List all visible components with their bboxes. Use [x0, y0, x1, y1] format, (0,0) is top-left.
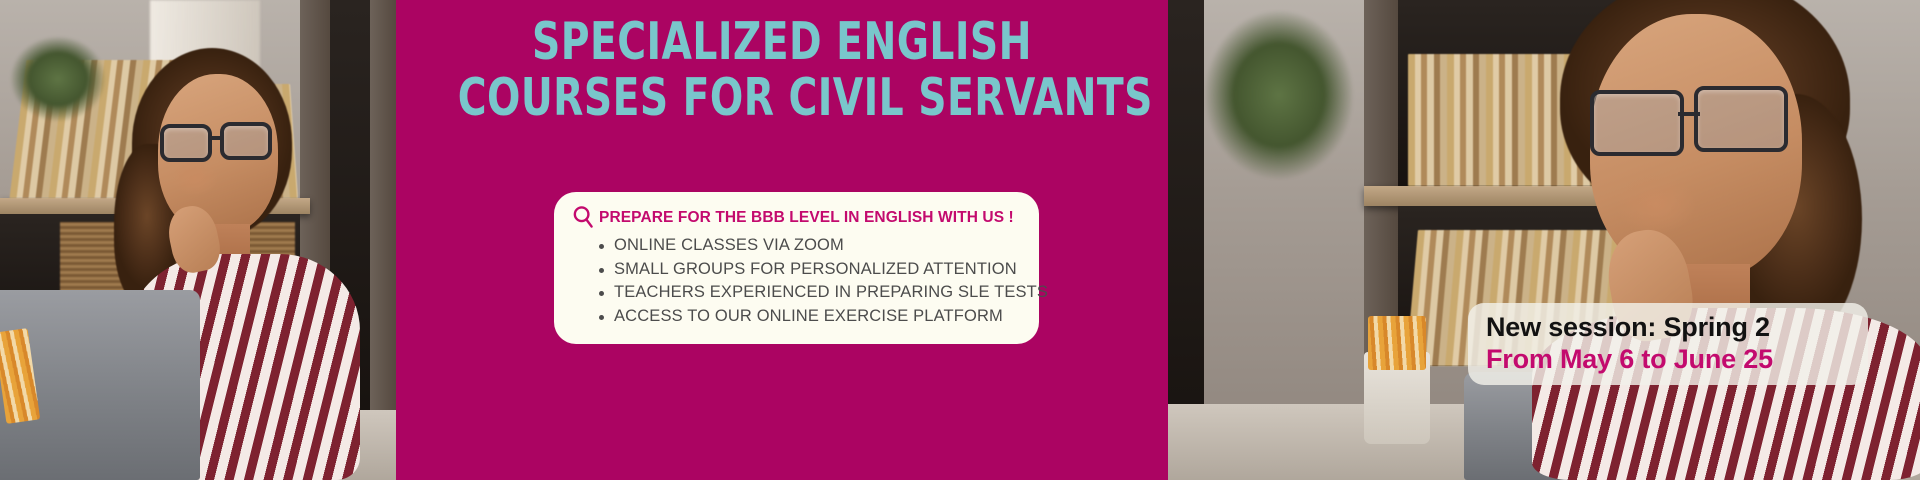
- info-card-heading-row: PREPARE FOR THE BBB LEVEL IN ENGLISH WIT…: [572, 206, 1021, 229]
- promotional-banner: SPECIALIZED ENGLISH COURSES FOR CIVIL SE…: [0, 0, 1920, 480]
- headline-line-1: SPECIALIZED ENGLISH: [458, 14, 1106, 70]
- glasses-lens-left: [160, 124, 212, 162]
- list-item: SMALL GROUPS FOR PERSONALIZED ATTENTION: [614, 258, 1021, 282]
- bookshelf-frame: [370, 0, 396, 430]
- glasses-bridge: [1678, 112, 1700, 116]
- glasses-lens-right: [1694, 86, 1788, 152]
- pencils: [1368, 316, 1426, 370]
- list-item: ONLINE CLASSES VIA ZOOM: [614, 234, 1021, 258]
- office-scene-right: [1168, 0, 1920, 480]
- list-item: ACCESS TO OUR ONLINE EXERCISE PLATFORM: [614, 305, 1021, 329]
- info-card-heading: PREPARE FOR THE BBB LEVEL IN ENGLISH WIT…: [599, 206, 1014, 227]
- headline: SPECIALIZED ENGLISH COURSES FOR CIVIL SE…: [458, 14, 1106, 126]
- session-badge-dates: From May 6 to June 25: [1486, 343, 1850, 375]
- person-right: [1498, 0, 1920, 480]
- cheek-highlight: [172, 160, 218, 196]
- search-icon: [572, 205, 594, 229]
- plant: [1204, 10, 1354, 180]
- benefits-list: ONLINE CLASSES VIA ZOOM SMALL GROUPS FOR…: [568, 234, 1021, 328]
- glasses-lens-right: [220, 122, 272, 160]
- session-badge-title: New session: Spring 2: [1486, 311, 1850, 343]
- glasses-bridge: [210, 136, 224, 140]
- office-scene-left: [0, 0, 396, 480]
- center-panel: SPECIALIZED ENGLISH COURSES FOR CIVIL SE…: [396, 0, 1168, 480]
- headline-line-2: COURSES FOR CIVIL SERVANTS: [458, 70, 1106, 126]
- plant: [10, 36, 106, 122]
- list-item: TEACHERS EXPERIENCED IN PREPARING SLE TE…: [614, 281, 1021, 305]
- cheek-highlight: [1616, 174, 1696, 234]
- glasses-lens-left: [1590, 90, 1684, 156]
- photo-left: [0, 0, 396, 480]
- session-badge: New session: Spring 2 From May 6 to June…: [1468, 303, 1868, 385]
- info-card: PREPARE FOR THE BBB LEVEL IN ENGLISH WIT…: [554, 192, 1039, 344]
- photo-right: New session: Spring 2 From May 6 to June…: [1168, 0, 1920, 480]
